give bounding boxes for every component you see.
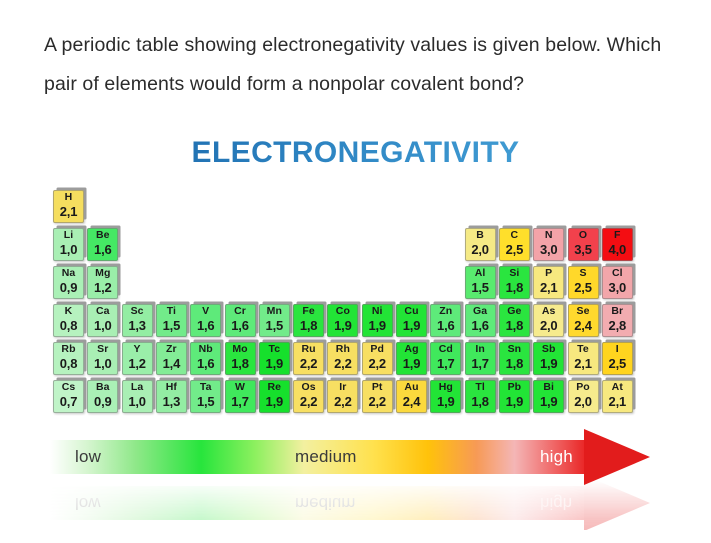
- element-electronegativity-value: 2,2: [294, 357, 323, 370]
- element-tile-ag: Ag1,9: [396, 342, 427, 375]
- element-tile-nb: Nb1,6: [190, 342, 221, 375]
- element-tile-li: Li1,0: [53, 228, 84, 261]
- element-electronegativity-value: 2,5: [500, 243, 529, 256]
- element-electronegativity-value: 2,5: [603, 357, 632, 370]
- periodic-table: H2,1Li1,0Be1,6B2,0C2,5N3,0O3,5F4,0Na0,9M…: [50, 190, 650, 430]
- element-tile-hg: Hg1,9: [430, 380, 461, 413]
- electronegativity-figure: ELECTRONEGATIVITY ELECTRONEGATIVITY H2,1…: [0, 128, 711, 543]
- element-electronegativity-value: 1,8: [500, 319, 529, 332]
- element-electronegativity-value: 1,2: [123, 357, 152, 370]
- element-tile-as: As2,0: [533, 304, 564, 337]
- element-tile-rh: Rh2,2: [327, 342, 358, 375]
- element-electronegativity-value: 1,9: [363, 319, 392, 332]
- element-electronegativity-value: 1,6: [431, 319, 460, 332]
- element-electronegativity-value: 1,6: [226, 319, 255, 332]
- element-electronegativity-value: 1,5: [157, 319, 186, 332]
- element-tile-i: I2,5: [602, 342, 633, 375]
- element-tile-zn: Zn1,6: [430, 304, 461, 337]
- element-tile-ba: Ba0,9: [87, 380, 118, 413]
- element-electronegativity-value: 1,6: [466, 319, 495, 332]
- element-tile-pt: Pt2,2: [362, 380, 393, 413]
- element-electronegativity-value: 0,8: [54, 319, 83, 332]
- element-electronegativity-value: 1,9: [260, 395, 289, 408]
- element-electronegativity-value: 2,0: [534, 319, 563, 332]
- element-electronegativity-value: 2,1: [54, 205, 83, 218]
- element-electronegativity-value: 2,1: [534, 281, 563, 294]
- element-tile-mo: Mo1,8: [225, 342, 256, 375]
- element-tile-bi: Bi1,9: [533, 380, 564, 413]
- element-tile-p: P2,1: [533, 266, 564, 299]
- element-electronegativity-value: 2,2: [363, 395, 392, 408]
- element-tile-br: Br2,8: [602, 304, 633, 337]
- element-tile-in: In1,7: [465, 342, 496, 375]
- element-tile-na: Na0,9: [53, 266, 84, 299]
- electronegativity-scale: low medium high: [50, 434, 650, 480]
- element-electronegativity-value: 1,9: [328, 319, 357, 332]
- element-electronegativity-value: 4,0: [603, 243, 632, 256]
- element-electronegativity-value: 0,8: [54, 357, 83, 370]
- element-tile-au: Au2,4: [396, 380, 427, 413]
- element-electronegativity-value: 2,2: [328, 395, 357, 408]
- element-electronegativity-value: 1,9: [534, 395, 563, 408]
- element-electronegativity-value: 1,9: [500, 395, 529, 408]
- element-tile-te: Te2,1: [568, 342, 599, 375]
- element-electronegativity-value: 2,2: [328, 357, 357, 370]
- element-electronegativity-value: 1,3: [123, 319, 152, 332]
- element-electronegativity-value: 1,0: [88, 319, 117, 332]
- element-tile-ca: Ca1,0: [87, 304, 118, 337]
- element-electronegativity-value: 1,7: [466, 357, 495, 370]
- element-tile-k: K0,8: [53, 304, 84, 337]
- element-electronegativity-value: 0,7: [54, 395, 83, 408]
- element-tile-o: O3,5: [568, 228, 599, 261]
- element-electronegativity-value: 1,9: [431, 395, 460, 408]
- element-electronegativity-value: 1,8: [226, 357, 255, 370]
- element-tile-sc: Sc1,3: [122, 304, 153, 337]
- element-electronegativity-value: 3,0: [534, 243, 563, 256]
- element-electronegativity-value: 1,9: [534, 357, 563, 370]
- element-tile-os: Os2,2: [293, 380, 324, 413]
- element-tile-sn: Sn1,8: [499, 342, 530, 375]
- element-tile-cr: Cr1,6: [225, 304, 256, 337]
- element-tile-cu: Cu1,9: [396, 304, 427, 337]
- scale-reflection-label-low: low: [75, 493, 101, 513]
- element-tile-sr: Sr1,0: [87, 342, 118, 375]
- element-electronegativity-value: 1,5: [260, 319, 289, 332]
- page-root: A periodic table showing electronegativi…: [0, 0, 711, 543]
- element-electronegativity-value: 1,0: [123, 395, 152, 408]
- element-electronegativity-value: 1,6: [191, 357, 220, 370]
- scale-arrow-icon: [584, 429, 650, 485]
- element-electronegativity-value: 1,5: [466, 281, 495, 294]
- element-tile-re: Re1,9: [259, 380, 290, 413]
- element-electronegativity-value: 0,9: [88, 395, 117, 408]
- element-electronegativity-value: 2,4: [397, 395, 426, 408]
- element-tile-cd: Cd1,7: [430, 342, 461, 375]
- element-tile-pb: Pb1,9: [499, 380, 530, 413]
- element-tile-la: La1,0: [122, 380, 153, 413]
- element-tile-h: H2,1: [53, 190, 84, 223]
- element-electronegativity-value: 1,9: [397, 357, 426, 370]
- element-tile-sb: Sb1,9: [533, 342, 564, 375]
- element-tile-ru: Ru2,2: [293, 342, 324, 375]
- element-tile-po: Po2,0: [568, 380, 599, 413]
- element-tile-b: B2,0: [465, 228, 496, 261]
- element-tile-be: Be1,6: [87, 228, 118, 261]
- element-electronegativity-value: 3,0: [603, 281, 632, 294]
- element-electronegativity-value: 2,0: [466, 243, 495, 256]
- element-tile-fe: Fe1,8: [293, 304, 324, 337]
- element-tile-at: At2,1: [602, 380, 633, 413]
- element-electronegativity-value: 1,0: [54, 243, 83, 256]
- element-tile-ge: Ge1,8: [499, 304, 530, 337]
- element-electronegativity-value: 1,6: [88, 243, 117, 256]
- scale-label-medium: medium: [295, 447, 357, 467]
- element-electronegativity-value: 1,8: [294, 319, 323, 332]
- element-tile-tc: Tc1,9: [259, 342, 290, 375]
- element-tile-c: C2,5: [499, 228, 530, 261]
- element-electronegativity-value: 2,5: [569, 281, 598, 294]
- element-electronegativity-value: 1,8: [500, 357, 529, 370]
- element-electronegativity-value: 1,6: [191, 319, 220, 332]
- element-tile-al: Al1,5: [465, 266, 496, 299]
- element-electronegativity-value: 2,2: [294, 395, 323, 408]
- element-tile-v: V1,6: [190, 304, 221, 337]
- scale-reflection-label-medium: medium: [295, 493, 355, 513]
- element-tile-mg: Mg1,2: [87, 266, 118, 299]
- element-electronegativity-value: 2,2: [363, 357, 392, 370]
- element-electronegativity-value: 1,5: [191, 395, 220, 408]
- element-electronegativity-value: 1,8: [500, 281, 529, 294]
- element-tile-f: F4,0: [602, 228, 633, 261]
- element-tile-se: Se2,4: [568, 304, 599, 337]
- element-tile-mn: Mn1,5: [259, 304, 290, 337]
- element-tile-ni: Ni1,9: [362, 304, 393, 337]
- element-electronegativity-value: 2,0: [569, 395, 598, 408]
- element-electronegativity-value: 1,2: [88, 281, 117, 294]
- element-electronegativity-value: 1,7: [226, 395, 255, 408]
- element-tile-n: N3,0: [533, 228, 564, 261]
- element-electronegativity-value: 3,5: [569, 243, 598, 256]
- element-tile-cs: Cs0,7: [53, 380, 84, 413]
- element-electronegativity-value: 1,9: [260, 357, 289, 370]
- element-electronegativity-value: 1,0: [88, 357, 117, 370]
- element-tile-pd: Pd2,2: [362, 342, 393, 375]
- element-tile-ti: Ti1,5: [156, 304, 187, 337]
- element-tile-w: W1,7: [225, 380, 256, 413]
- element-tile-cl: Cl3,0: [602, 266, 633, 299]
- chart-title: ELECTRONEGATIVITY: [0, 136, 711, 170]
- element-tile-si: Si1,8: [499, 266, 530, 299]
- element-electronegativity-value: 1,8: [466, 395, 495, 408]
- element-tile-tl: Tl1,8: [465, 380, 496, 413]
- element-tile-s: S2,5: [568, 266, 599, 299]
- element-electronegativity-value: 2,1: [569, 357, 598, 370]
- element-tile-hf: Hf1,3: [156, 380, 187, 413]
- element-tile-rb: Rb0,8: [53, 342, 84, 375]
- element-electronegativity-value: 2,8: [603, 319, 632, 332]
- element-tile-zr: Zr1,4: [156, 342, 187, 375]
- element-tile-ir: Ir2,2: [327, 380, 358, 413]
- scale-reflection-bar: [50, 486, 590, 520]
- element-electronegativity-value: 2,1: [603, 395, 632, 408]
- scale-reflection-label-high: high: [540, 493, 572, 513]
- element-electronegativity-value: 1,4: [157, 357, 186, 370]
- element-electronegativity-value: 0,9: [54, 281, 83, 294]
- element-electronegativity-value: 1,3: [157, 395, 186, 408]
- element-tile-co: Co1,9: [327, 304, 358, 337]
- element-tile-ta: Ta1,5: [190, 380, 221, 413]
- element-electronegativity-value: 2,4: [569, 319, 598, 332]
- element-electronegativity-value: 1,9: [397, 319, 426, 332]
- element-tile-ga: Ga1,6: [465, 304, 496, 337]
- question-text: A periodic table showing electronegativi…: [44, 26, 664, 104]
- element-electronegativity-value: 1,7: [431, 357, 460, 370]
- element-tile-y: Y1,2: [122, 342, 153, 375]
- scale-label-high: high: [540, 447, 573, 467]
- scale-reflection: low medium high: [50, 480, 650, 530]
- scale-label-low: low: [75, 447, 101, 467]
